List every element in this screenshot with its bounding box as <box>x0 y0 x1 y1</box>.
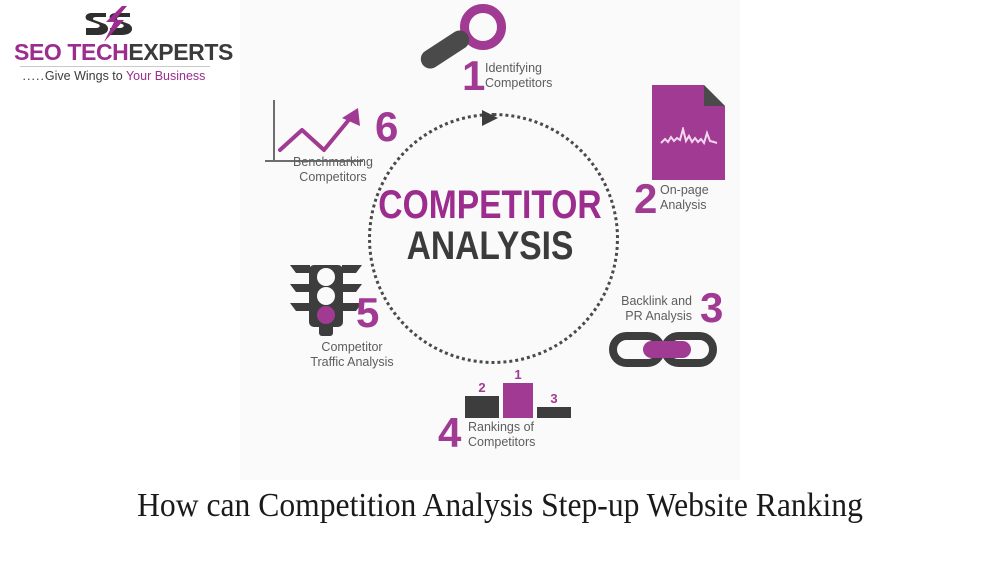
step-3-label-line1: Backlink and <box>600 294 692 309</box>
step-4-label-line2: Competitors <box>468 435 535 450</box>
traffic-light-lamp-bottom <box>317 306 335 324</box>
rank-bar-second-caption: 2 <box>465 381 499 395</box>
step-4-number: 4 <box>438 412 461 454</box>
bar-chart-icon: 2 1 3 <box>465 378 570 418</box>
step-6-number: 6 <box>375 106 398 148</box>
step-5-number: 5 <box>356 292 379 334</box>
wordmark-tech: TECH <box>67 39 128 65</box>
wordmark-experts: EXPERTS <box>128 39 233 65</box>
tagline-dots: ..... <box>23 69 45 83</box>
step-2-number: 2 <box>634 178 657 220</box>
step-3-number: 3 <box>700 287 723 329</box>
chain-connector-bar <box>643 341 691 358</box>
graph-trend-arrow <box>274 102 366 160</box>
traffic-light-visor-right-1 <box>342 265 362 273</box>
cycle-arrow-icon <box>480 108 502 128</box>
document-folded-corner <box>704 85 725 106</box>
infographic-canvas: COMPETITOR ANALYSIS 1 Identifying Compet… <box>240 0 740 480</box>
traffic-light-housing <box>309 265 343 327</box>
traffic-light-visor-left-2 <box>290 284 310 292</box>
document-report-icon <box>652 85 732 180</box>
traffic-light-visor-left-3 <box>290 303 310 311</box>
step-1-label: Identifying Competitors <box>485 61 552 92</box>
traffic-light-lamp-top <box>317 268 335 286</box>
lightning-s-logo-icon <box>82 6 144 42</box>
center-title-line2: ANALYSIS <box>372 226 607 267</box>
logo-divider <box>20 66 210 67</box>
traffic-light-base <box>319 325 333 336</box>
step-5-label: Competitor Traffic Analysis <box>278 340 426 371</box>
chain-link-icon <box>609 330 721 372</box>
document-sparkline <box>660 127 718 149</box>
step-6-label-line2: Competitors <box>258 170 408 185</box>
step-2-label: On-page Analysis <box>660 183 709 214</box>
traffic-light-visor-left-1 <box>290 265 310 273</box>
rank-bar-first-caption: 1 <box>503 368 533 382</box>
page-title: How can Competition Analysis Step-up Web… <box>35 487 965 525</box>
step-2-label-line2: Analysis <box>660 198 709 213</box>
center-title-line1: COMPETITOR <box>372 185 607 226</box>
brand-logo[interactable]: SEO TECHEXPERTS .....Give Wings to Your … <box>14 6 214 86</box>
step-1-label-line2: Competitors <box>485 76 552 91</box>
rank-bar-second: 2 <box>465 396 499 418</box>
step-4-label: Rankings of Competitors <box>468 420 535 451</box>
step-3-label: Backlink and PR Analysis <box>600 294 692 325</box>
rank-bar-third-caption: 3 <box>537 392 571 406</box>
step-5-label-line1: Competitor <box>278 340 426 355</box>
step-5-label-line2: Traffic Analysis <box>278 355 426 370</box>
step-3-label-line2: PR Analysis <box>600 309 692 324</box>
rank-bar-third: 3 <box>537 407 571 418</box>
step-6-label-line1: Benchmarking <box>258 155 408 170</box>
step-1-number: 1 <box>462 55 485 97</box>
step-4-label-line1: Rankings of <box>468 420 535 435</box>
tagline-text: Give Wings to <box>45 69 126 83</box>
center-title: COMPETITOR ANALYSIS <box>350 185 630 267</box>
traffic-light-lamp-middle <box>317 287 335 305</box>
brand-wordmark: SEO TECHEXPERTS <box>14 39 214 66</box>
wordmark-seo: SEO <box>14 39 67 65</box>
traffic-light-icon <box>288 263 364 339</box>
brand-tagline: .....Give Wings to Your Business <box>14 69 214 83</box>
step-6-label: Benchmarking Competitors <box>258 155 408 186</box>
step-2-label-line1: On-page <box>660 183 709 198</box>
tagline-accent: Your Business <box>126 69 205 83</box>
rank-bar-first: 1 <box>503 383 533 418</box>
step-1-label-line1: Identifying <box>485 61 552 76</box>
